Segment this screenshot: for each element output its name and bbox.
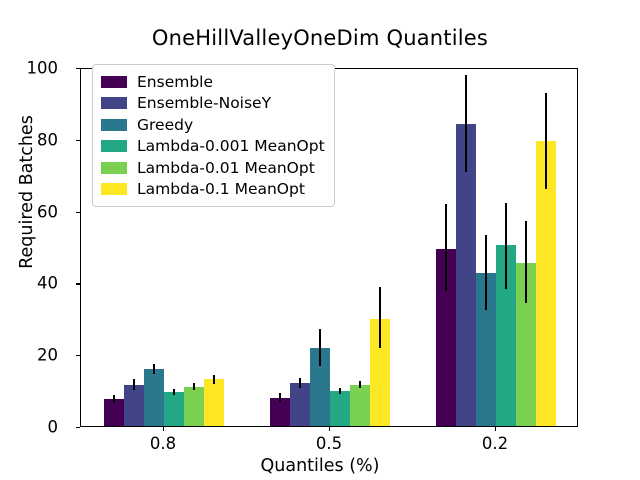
y-tick-mark — [76, 68, 80, 69]
x-tick-mark — [495, 427, 496, 431]
figure: OneHillValleyOneDim Quantiles Required B… — [0, 0, 640, 480]
legend-item: Ensemble — [101, 71, 325, 93]
legend-color-swatch — [101, 162, 127, 174]
bar — [164, 392, 184, 426]
bar — [144, 369, 164, 426]
error-bar — [339, 388, 341, 394]
legend: EnsembleEnsemble-NoiseYGreedyLambda-0.00… — [92, 64, 335, 207]
legend-label: Ensemble — [137, 73, 213, 91]
error-bar — [465, 75, 467, 172]
legend-item: Ensemble-NoiseY — [101, 93, 325, 115]
bar — [204, 379, 224, 426]
x-tick-label: 0.5 — [316, 434, 342, 453]
y-tick-mark — [76, 140, 80, 141]
bar — [184, 387, 204, 426]
y-tick-mark — [76, 283, 80, 284]
bar — [350, 385, 370, 426]
error-bar — [505, 203, 507, 289]
legend-color-swatch — [101, 183, 127, 195]
error-bar — [319, 329, 321, 366]
error-bar — [299, 378, 301, 388]
legend-label: Lambda-0.001 MeanOpt — [137, 137, 325, 155]
error-bar — [445, 204, 447, 291]
y-tick-mark — [76, 427, 80, 428]
legend-item: Greedy — [101, 114, 325, 136]
error-bar — [485, 235, 487, 310]
y-tick-label: 100 — [0, 59, 58, 78]
chart-title: OneHillValleyOneDim Quantiles — [0, 26, 640, 50]
error-bar — [193, 383, 195, 391]
error-bar — [153, 364, 155, 374]
error-bar — [213, 375, 215, 384]
error-bar — [279, 393, 281, 402]
y-tick-label: 40 — [0, 274, 58, 293]
x-tick-label: 0.8 — [150, 434, 176, 453]
y-tick-mark — [76, 212, 80, 213]
legend-label: Lambda-0.01 MeanOpt — [137, 159, 315, 177]
error-bar — [545, 93, 547, 189]
error-bar — [133, 379, 135, 390]
y-tick-label: 20 — [0, 346, 58, 365]
legend-label: Lambda-0.1 MeanOpt — [137, 180, 305, 198]
y-tick-label: 60 — [0, 202, 58, 221]
y-tick-label: 0 — [0, 418, 58, 437]
y-tick-label: 80 — [0, 130, 58, 149]
bar — [104, 399, 124, 426]
bar — [290, 383, 310, 426]
legend-color-swatch — [101, 119, 127, 131]
legend-color-swatch — [101, 76, 127, 88]
legend-color-swatch — [101, 97, 127, 109]
error-bar — [359, 381, 361, 388]
legend-item: Lambda-0.1 MeanOpt — [101, 179, 325, 201]
legend-color-swatch — [101, 140, 127, 152]
legend-item: Lambda-0.001 MeanOpt — [101, 136, 325, 158]
legend-label: Greedy — [137, 116, 193, 134]
error-bar — [525, 221, 527, 302]
bar — [124, 385, 144, 426]
error-bar — [113, 395, 115, 403]
bar — [330, 391, 350, 426]
legend-label: Ensemble-NoiseY — [137, 94, 271, 112]
x-tick-mark — [163, 427, 164, 431]
x-axis-label: Quantiles (%) — [0, 456, 640, 476]
x-tick-mark — [329, 427, 330, 431]
y-tick-mark — [76, 355, 80, 356]
x-tick-label: 0.2 — [482, 434, 508, 453]
error-bar — [173, 389, 175, 395]
error-bar — [379, 287, 381, 348]
legend-item: Lambda-0.01 MeanOpt — [101, 157, 325, 179]
